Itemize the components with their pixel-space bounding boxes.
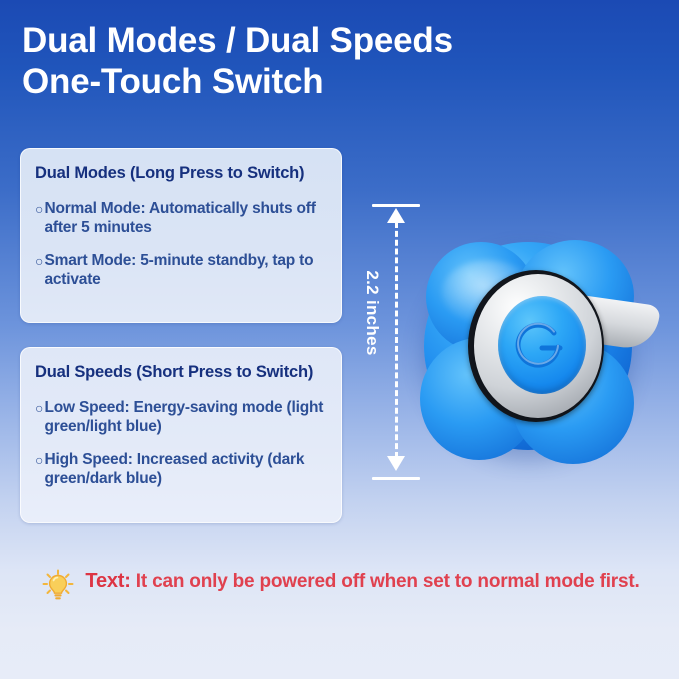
product-image [424,232,656,464]
card-dual-speeds: Dual Speeds (Short Press to Switch) ○ Lo… [20,347,342,523]
circle-bullet-icon: ○ [35,251,43,271]
dimension-cap-top [372,204,420,207]
circle-bullet-icon: ○ [35,199,43,219]
footer-note-inner: Text: It can only be powered off when se… [19,560,659,595]
dimension-label: 2.2 inches [362,253,382,373]
card-heading: Dual Modes (Long Press to Switch) [35,163,327,183]
footer-note: Text: It can only be powered off when se… [0,560,679,595]
dimension-cap-bottom [372,477,420,480]
arrow-up-icon [387,208,405,223]
list-item-label: Normal Mode: Automatically shuts off aft… [44,199,327,237]
dimension-dashed-line [395,222,398,458]
footer-note-body: It can only be powered off when set to n… [131,571,640,592]
circle-bullet-icon: ○ [35,398,43,418]
power-button-icon [514,317,570,373]
page-title: Dual Modes / Dual Speeds One-Touch Switc… [22,20,622,102]
list-item: ○ High Speed: Increased activity (dark g… [35,450,327,488]
list-item-label: Smart Mode: 5-minute standby, tap to act… [44,251,327,289]
title-line-2: One-Touch Switch [22,61,622,102]
arrow-down-icon [387,456,405,471]
product-power-button [498,296,586,394]
infographic-page: Dual Modes / Dual Speeds One-Touch Switc… [0,0,679,679]
list-item: ○ Smart Mode: 5-minute standby, tap to a… [35,251,327,289]
card-heading: Dual Speeds (Short Press to Switch) [35,362,327,382]
list-item-label: Low Speed: Energy-saving mode (light gre… [44,398,327,436]
card-dual-modes: Dual Modes (Long Press to Switch) ○ Norm… [20,148,342,323]
list-item: ○ Low Speed: Energy-saving mode (light g… [35,398,327,436]
circle-bullet-icon: ○ [35,450,43,470]
dimension-indicator: 2.2 inches [356,200,422,485]
list-item-label: High Speed: Increased activity (dark gre… [44,450,327,488]
footer-note-text: Text: It can only be powered off when se… [27,560,659,595]
list-item: ○ Normal Mode: Automatically shuts off a… [35,199,327,237]
footer-note-label: Text: [85,570,130,592]
lightbulb-icon [41,569,75,603]
title-line-1: Dual Modes / Dual Speeds [22,20,622,61]
